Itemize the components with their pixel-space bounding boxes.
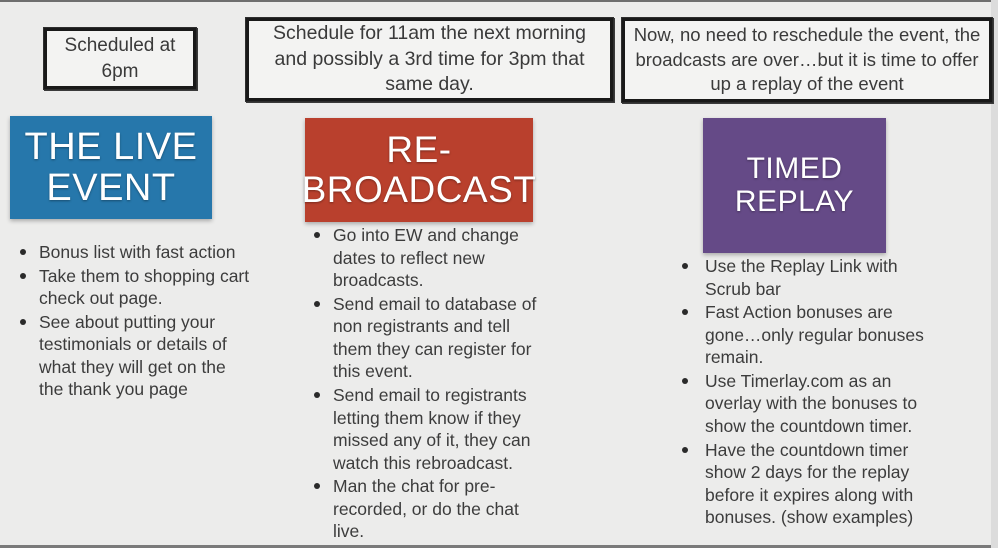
callout-text: Scheduled at 6pm [55, 33, 185, 84]
heading-label: THE LIVE EVENT [16, 127, 206, 208]
callout-box-replay-note: Now, no need to reschedule the event, th… [622, 18, 992, 102]
heading-block-re-broadcast: RE-BROADCAST [305, 118, 533, 222]
list-item-text: See about putting your testimonials or d… [39, 312, 227, 400]
callout-box-scheduled: Scheduled at 6pm [44, 28, 196, 89]
list-item-text: Have the countdown timer show 2 days for… [705, 440, 913, 528]
slide-canvas: Scheduled at 6pm Schedule for 11am the n… [0, 0, 998, 548]
list-item-text: Take them to shopping cart check out pag… [39, 266, 249, 309]
heading-label: RE-BROADCAST [302, 130, 537, 209]
heading-block-live-event: THE LIVE EVENT [10, 116, 212, 219]
list-item: Bonus list with fast action [6, 241, 251, 264]
bullet-list-timed-replay: Use the Replay Link with Scrub bar Fast … [672, 255, 932, 530]
bullet-list-live-event: Bonus list with fast action Take them to… [6, 241, 251, 402]
list-item: Take them to shopping cart check out pag… [6, 265, 251, 310]
list-item: Have the countdown timer show 2 days for… [672, 439, 932, 529]
right-edge-strip [991, 0, 998, 548]
list-item-text: Go into EW and change dates to reflect n… [333, 225, 519, 290]
list-item: Use the Replay Link with Scrub bar [672, 255, 932, 300]
callout-text: Schedule for 11am the next morning and p… [257, 21, 602, 99]
list-item-text: Bonus list with fast action [39, 242, 235, 262]
list-item: Use Timerlay.com as an overlay with the … [672, 370, 932, 438]
callout-text: Now, no need to reschedule the event, th… [633, 23, 981, 97]
list-item: See about putting your testimonials or d… [6, 311, 251, 401]
heading-label: TIMED REPLAY [709, 153, 880, 217]
list-item: Send email to registrants letting them k… [300, 384, 548, 474]
callout-box-rebroadcast-schedule: Schedule for 11am the next morning and p… [246, 18, 613, 101]
heading-block-timed-replay: TIMED REPLAY [703, 118, 886, 253]
list-item: Man the chat for pre-recorded, or do the… [300, 475, 548, 543]
list-item-text: Send email to database of non registrant… [333, 294, 536, 382]
list-item-text: Man the chat for pre-recorded, or do the… [333, 476, 519, 541]
list-item-text: Fast Action bonuses are gone…only regula… [705, 302, 924, 367]
top-border-line [0, 0, 998, 2]
bullet-list-re-broadcast: Go into EW and change dates to reflect n… [300, 224, 548, 544]
list-item-text: Use Timerlay.com as an overlay with the … [705, 371, 917, 436]
list-item-text: Send email to registrants letting them k… [333, 385, 530, 473]
list-item: Send email to database of non registrant… [300, 293, 548, 383]
list-item-text: Use the Replay Link with Scrub bar [705, 256, 898, 299]
list-item: Go into EW and change dates to reflect n… [300, 224, 548, 292]
list-item: Fast Action bonuses are gone…only regula… [672, 301, 932, 369]
